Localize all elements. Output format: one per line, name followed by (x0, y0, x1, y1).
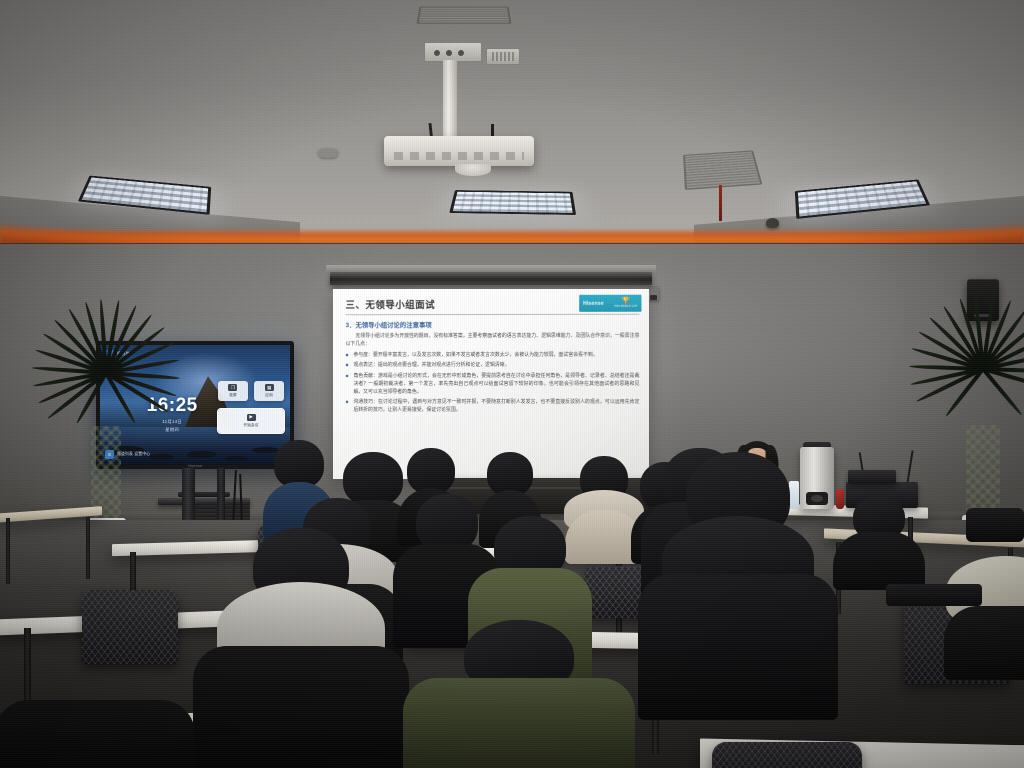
slide-subtitle: 3．无领导小组讨论的注意事项 (346, 320, 640, 329)
audience-member (196, 528, 406, 768)
projector-mount-plate (424, 42, 482, 62)
slide-bullet-item: 观点表达：提出的观点要合理，并能对观点进行分析和论证，逻辑清晰。 (346, 362, 640, 370)
ceiling-light-fixture (449, 190, 576, 215)
projection-screen-housing (330, 272, 652, 285)
tv-tile-start-meeting[interactable]: ▶ 开始会议 (218, 409, 285, 433)
slide-bullet-item: 角色贡献：游戏是小组讨论的形式，会在无形中形成角色，要提前思考自在讨论中承担任何… (346, 373, 640, 397)
hisense-wordmark: Hisense (583, 300, 604, 306)
tv-tile-label: 投屏 (229, 393, 237, 398)
audience-member (0, 700, 190, 768)
hisense-logo: Hisense 🏆 FIFA WORLD CUP (579, 295, 641, 312)
chair (712, 742, 862, 768)
tv-tile-label: 开始会议 (243, 423, 258, 428)
slide-title-divider (346, 314, 640, 315)
projected-slide: Hisense 🏆 FIFA WORLD CUP 三、无领导小组面试 3．无领导… (333, 289, 649, 479)
desk-leg (6, 518, 10, 584)
ceiling-dome-sensor-icon (766, 218, 779, 228)
desk-leg (86, 517, 90, 579)
classroom-scene: Hisense 🏆 FIFA WORLD CUP 三、无领导小组面试 3．无领导… (0, 0, 1024, 768)
audience-member (404, 620, 634, 768)
plant-trunk (966, 425, 1000, 521)
screen-share-icon: ❐ (228, 384, 237, 391)
bag (966, 508, 1024, 542)
slide-paragraph: 无领导小组讨论多为开放性的题目，没有标准答案，主要考察面试者的语言表达能力、逻辑… (346, 333, 640, 349)
chair (82, 590, 178, 664)
app-icon: ▦ (265, 384, 274, 391)
play-icon: ▶ (247, 414, 256, 421)
slide-bullet-item: 沟通技巧：在讨论过程中，遇到与对方意见不一致时并报，不要随意打断别人发发言，也不… (346, 399, 640, 415)
projector-lens-icon (455, 164, 491, 176)
audience-member (946, 556, 1024, 666)
plant-foliage (918, 310, 1024, 428)
jacket-on-chair (886, 584, 982, 606)
sprinkler-pipe-icon (719, 185, 722, 221)
hvac-vent (683, 150, 762, 190)
audience-member (640, 452, 836, 712)
smoke-detector-icon (318, 148, 338, 158)
tv-tile-apps[interactable]: ▦ 应用 (254, 381, 284, 401)
audience-member (834, 496, 924, 584)
wall-camera-icon (648, 286, 659, 300)
tv-tile-screenshare[interactable]: ❐ 投屏 (218, 381, 248, 401)
slide-bullet-list: 参与度：要开极丰富发言，以及发言次数，如果不发言或者发言次数太少，会被认为能力较… (346, 352, 640, 415)
ceiling-projector (384, 136, 534, 166)
av-equipment (848, 470, 896, 484)
hvac-vent (417, 7, 512, 24)
badge-label: FIFA WORLD CUP (614, 306, 637, 309)
tv-tile-label: 应用 (265, 393, 273, 398)
tv-stand-shelf (158, 498, 250, 505)
fifa-world-cup-badge-icon: 🏆 FIFA WORLD CUP (614, 298, 637, 308)
plant-foliage (46, 318, 166, 428)
ceiling-junction-box (486, 48, 520, 65)
slide-bullet-item: 参与度：要开极丰富发言，以及发言次数，如果不发言或者发言次数太少，会被认为能力较… (346, 352, 640, 360)
